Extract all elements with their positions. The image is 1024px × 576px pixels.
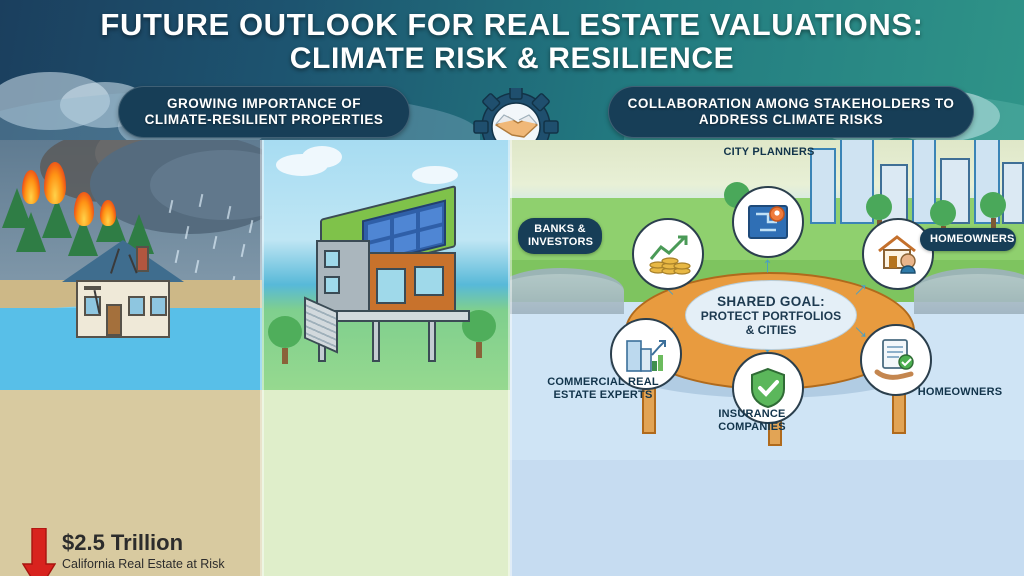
shared-goal-hub: SHARED GOAL: PROTECT PORTFOLIOS & CITIES bbox=[685, 280, 857, 350]
stakeholder-collaboration-illustration: ↑ ↑ ↑ ↑ ↑ ↑ SHARED GOAL: PROTECT PORTFOL… bbox=[510, 140, 1024, 460]
stakeholder-label-insurance: INSURANCE COMPANIES bbox=[706, 408, 798, 434]
bridge-icon bbox=[510, 268, 624, 314]
stat-caption: California Real Estate at Risk bbox=[62, 557, 262, 571]
stat-value: $2.5 Trillion bbox=[62, 530, 262, 556]
stakeholder-label-city-planners: CITY PLANNERS bbox=[722, 146, 816, 159]
page-title: FUTURE OUTLOOK FOR REAL ESTATE VALUATION… bbox=[0, 8, 1024, 76]
panel-divider bbox=[260, 140, 264, 576]
wildfire-flame bbox=[74, 192, 94, 226]
panel-divider bbox=[508, 140, 512, 576]
wildfire-flame bbox=[22, 170, 40, 204]
wildfire-flame bbox=[100, 200, 116, 226]
stakeholder-node-city-planners[interactable] bbox=[732, 186, 804, 258]
wildfire-flame bbox=[44, 162, 66, 204]
bridge-icon bbox=[914, 268, 1024, 314]
tree-icon bbox=[268, 316, 302, 364]
red-down-arrow-icon bbox=[22, 528, 56, 576]
section-badge-collaboration[interactable]: COLLABORATION AMONG STAKEHOLDERS TO ADDR… bbox=[608, 86, 974, 138]
stakeholder-label-homeowners-top: HOMEOWNERS bbox=[920, 228, 1016, 251]
title-line-2: CLIMATE RISK & RESILIENCE bbox=[0, 42, 1024, 76]
stilt-house-icon bbox=[302, 192, 472, 342]
title-line-1: FUTURE OUTLOOK FOR REAL ESTATE VALUATION… bbox=[100, 7, 923, 42]
risk-statistic: $2.5 Trillion California Real Estate at … bbox=[62, 530, 262, 576]
stakeholder-node-homeowners-top[interactable] bbox=[862, 218, 934, 290]
hub-line-1: SHARED GOAL: bbox=[717, 294, 825, 309]
section-badge-growing-importance[interactable]: GROWING IMPORTANCE OF CLIMATE-RESILIENT … bbox=[118, 86, 410, 138]
resilient-house-illustration bbox=[262, 140, 510, 390]
stakeholder-label-homeowners-bottom: HOMEOWNERS bbox=[914, 386, 1006, 399]
damaged-house-icon bbox=[62, 240, 184, 350]
hub-line-2: PROTECT PORTFOLIOS bbox=[701, 309, 841, 323]
right-panel: ↑ ↑ ↑ ↑ ↑ ↑ SHARED GOAL: PROTECT PORTFOL… bbox=[510, 140, 1024, 576]
stakeholder-node-banks-investors[interactable] bbox=[632, 218, 704, 290]
mid-panel: 🏚 Flood 🔥 Energy 🔺 Flood 🔥 Fire History … bbox=[262, 140, 510, 576]
hub-line-3: & CITIES bbox=[746, 323, 797, 337]
stakeholder-label-banks-investors: BANKS & INVESTORS bbox=[518, 218, 602, 254]
climate-disaster-illustration bbox=[0, 140, 262, 390]
stakeholder-label-commercial-experts: COMMERCIAL REAL ESTATE EXPERTS bbox=[542, 376, 664, 402]
left-panel: $2.5 Trillion California Real Estate at … bbox=[0, 140, 262, 576]
